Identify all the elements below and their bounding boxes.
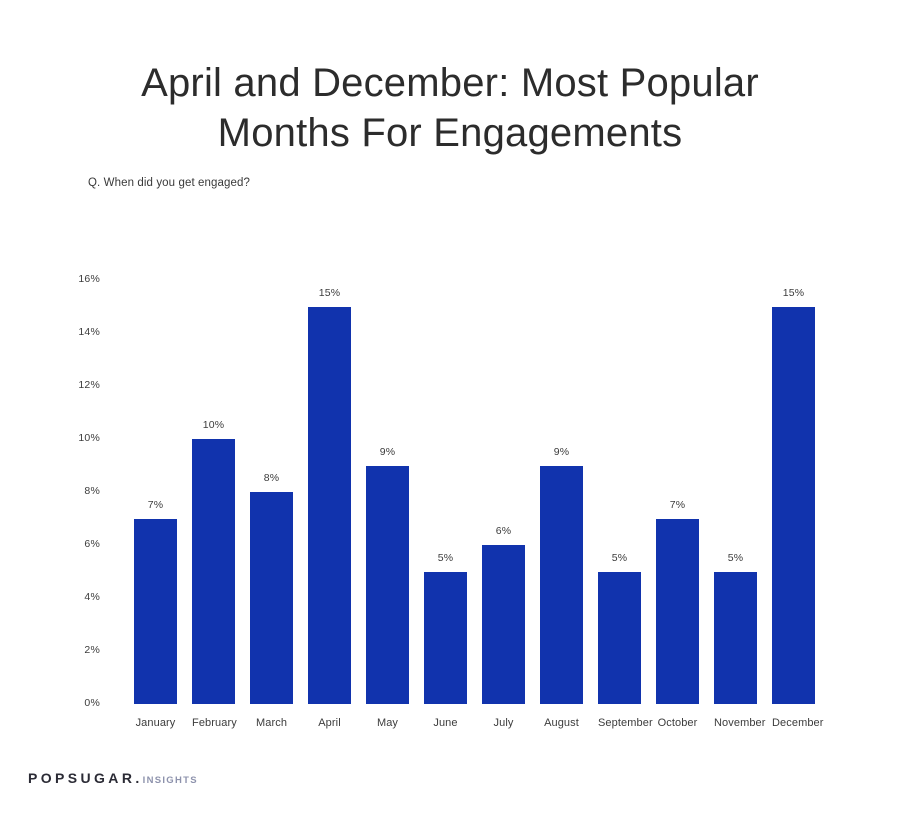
brand-name: POPSUGAR. (28, 770, 143, 786)
bar-value-label: 8% (250, 472, 293, 484)
bar[interactable] (598, 572, 641, 705)
bar[interactable] (424, 572, 467, 705)
brand-sub: INSIGHTS (143, 775, 198, 786)
bar-group: 10%February (192, 439, 235, 704)
bar-value-label: 7% (134, 499, 177, 511)
bar[interactable] (366, 466, 409, 705)
bar-value-label: 5% (424, 552, 467, 564)
x-axis-label: July (482, 717, 525, 729)
bar-group: 5%June (424, 572, 467, 705)
bar-group: 6%July (482, 545, 525, 704)
x-axis-label: February (192, 717, 235, 729)
bar-value-label: 7% (656, 499, 699, 511)
bar-group: 7%October (656, 519, 699, 705)
y-axis-tick: 2% (66, 644, 100, 656)
x-axis-label: September (598, 717, 641, 729)
x-axis-label: January (134, 717, 177, 729)
bar-group: 9%August (540, 466, 583, 705)
bar[interactable] (134, 519, 177, 705)
bar-group: 5%November (714, 572, 757, 705)
bar[interactable] (482, 545, 525, 704)
bar-group: 15%December (772, 307, 815, 705)
x-axis-label: March (250, 717, 293, 729)
x-axis-label: May (366, 717, 409, 729)
y-axis-tick: 6% (66, 538, 100, 550)
y-axis-tick: 10% (66, 432, 100, 444)
x-axis-label: November (714, 717, 757, 729)
bar-chart: 0%2%4%6%8%10%12%14%16%7%January10%Februa… (0, 0, 900, 817)
x-axis-label: December (772, 717, 815, 729)
bar-value-label: 15% (308, 287, 351, 299)
y-axis-tick: 14% (66, 326, 100, 338)
footer-logo: POPSUGAR.INSIGHTS (28, 770, 198, 788)
bar[interactable] (192, 439, 235, 704)
x-axis-label: August (540, 717, 583, 729)
y-axis-tick: 4% (66, 591, 100, 603)
bar[interactable] (772, 307, 815, 705)
bar-group: 8%March (250, 492, 293, 704)
bar[interactable] (656, 519, 699, 705)
bar[interactable] (250, 492, 293, 704)
bar[interactable] (308, 307, 351, 705)
bar-value-label: 15% (772, 287, 815, 299)
y-axis-tick: 8% (66, 485, 100, 497)
bar-value-label: 5% (714, 552, 757, 564)
bar-value-label: 6% (482, 525, 525, 537)
bar-group: 9%May (366, 466, 409, 705)
bar-value-label: 9% (540, 446, 583, 458)
bar[interactable] (714, 572, 757, 705)
bar-group: 15%April (308, 307, 351, 705)
bar[interactable] (540, 466, 583, 705)
y-axis-tick: 0% (66, 697, 100, 709)
bar-value-label: 9% (366, 446, 409, 458)
y-axis-tick: 16% (66, 273, 100, 285)
y-axis-tick: 12% (66, 379, 100, 391)
bar-group: 5%September (598, 572, 641, 705)
x-axis-label: June (424, 717, 467, 729)
x-axis-label: April (308, 717, 351, 729)
bar-value-label: 5% (598, 552, 641, 564)
x-axis-label: October (656, 717, 699, 729)
bar-group: 7%January (134, 519, 177, 705)
bar-value-label: 10% (192, 419, 235, 431)
